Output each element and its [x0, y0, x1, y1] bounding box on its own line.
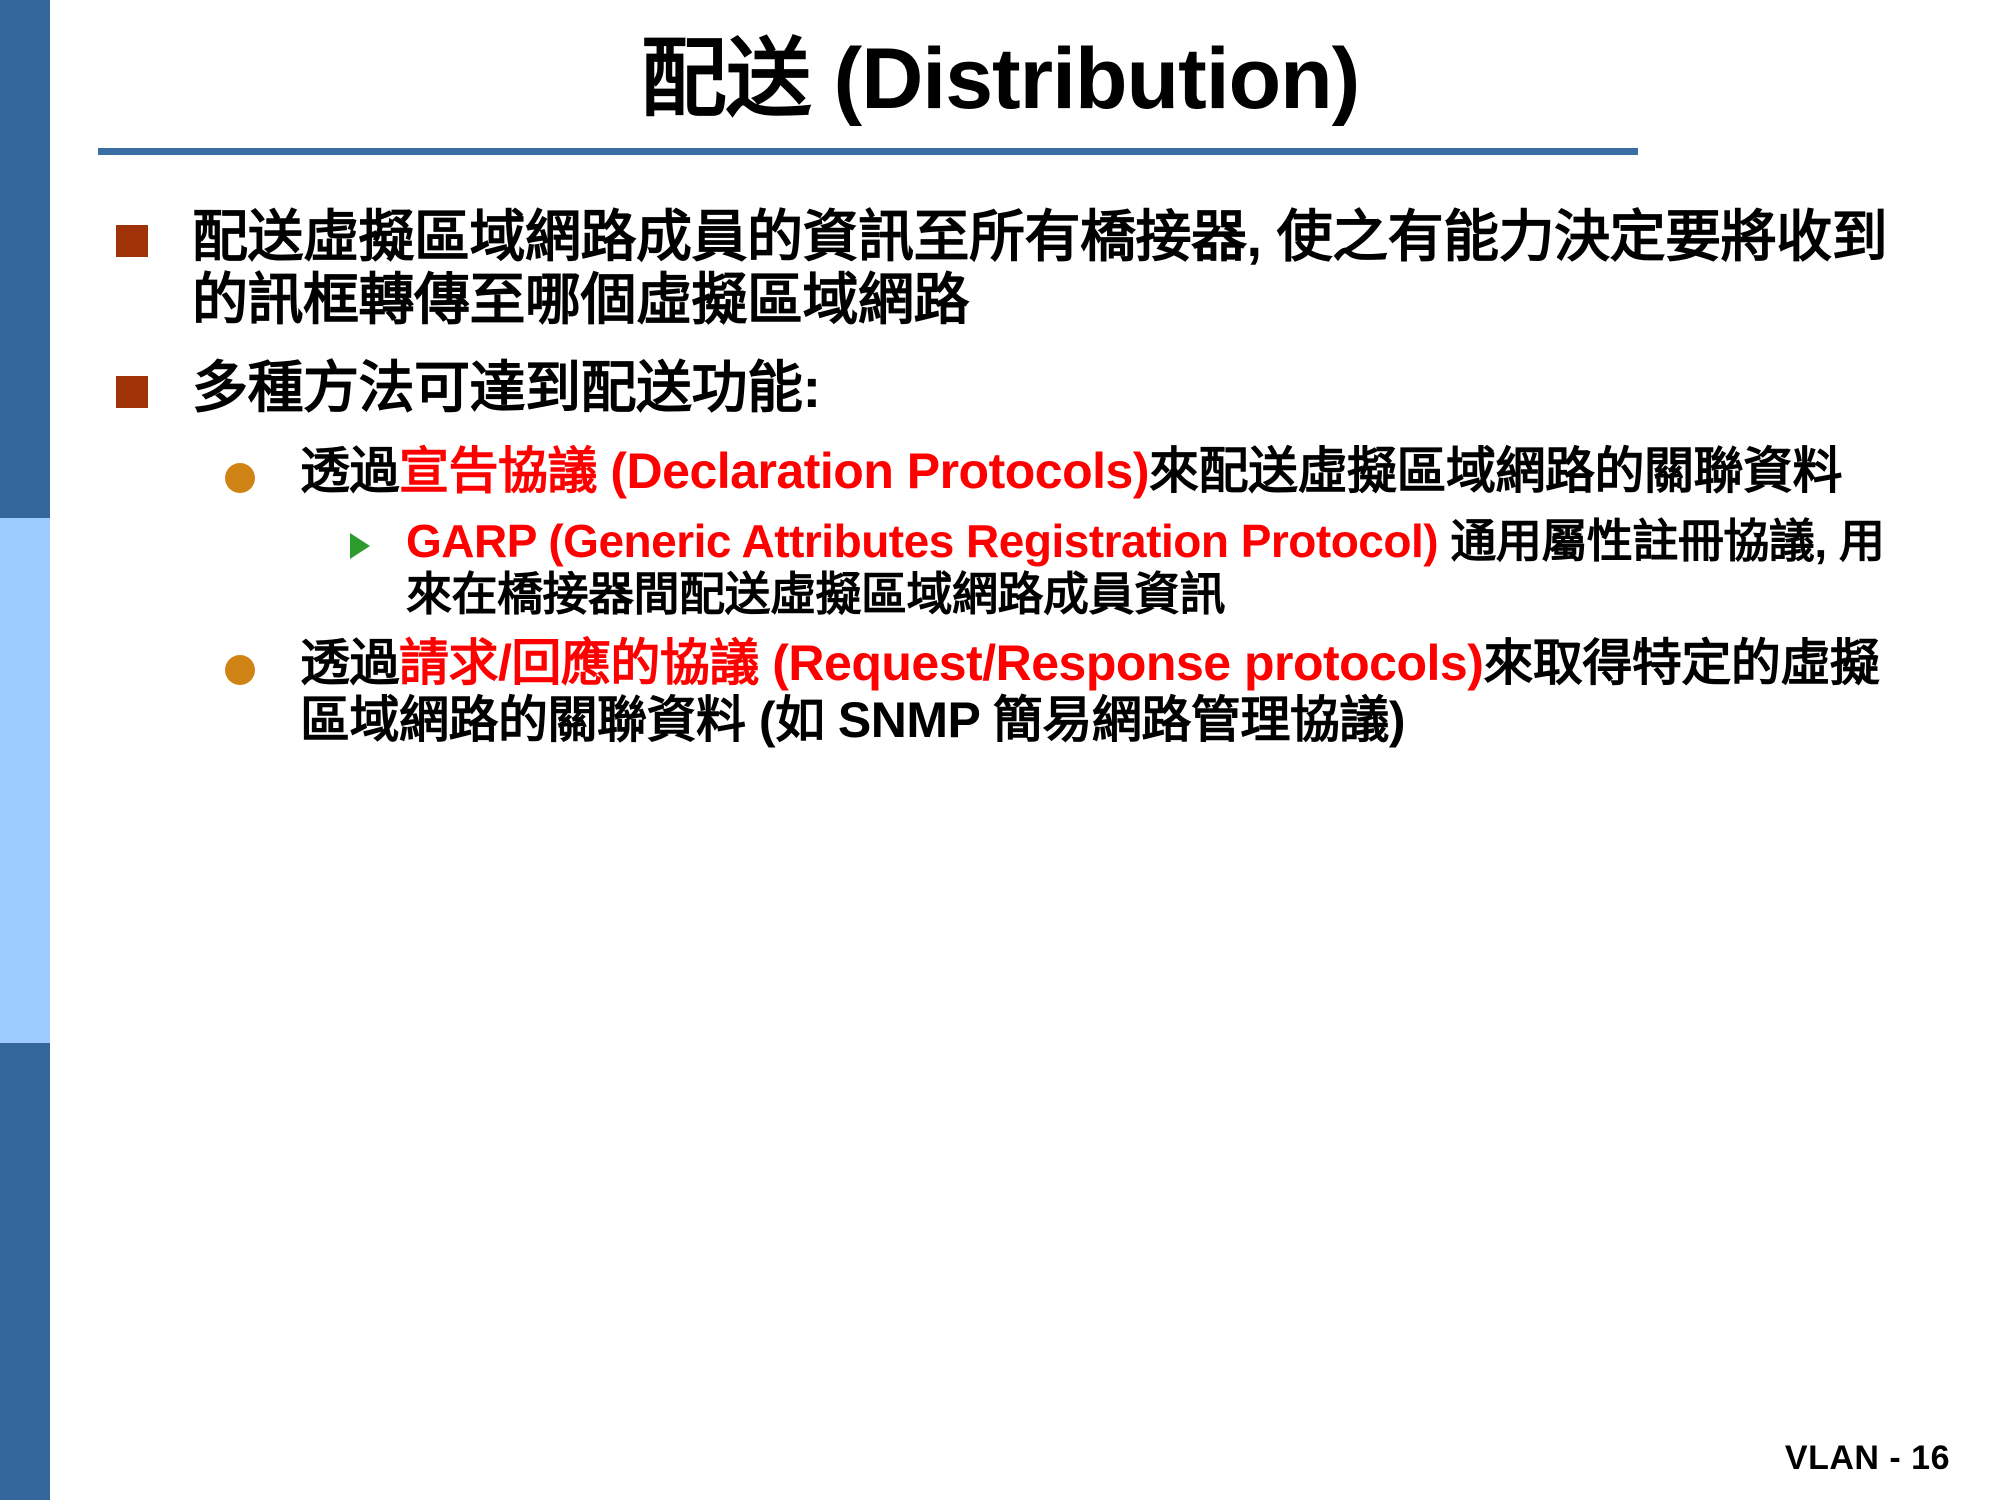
square-bullet-icon [116, 225, 148, 257]
bullet-level2-item: 透過請求/回應的協議 (Request/Response protocols)來… [110, 635, 1910, 748]
sidebar-stripe-top [0, 0, 50, 518]
sidebar-gap [50, 0, 58, 1500]
bullet-level3-text-highlight: GARP (Generic Attributes Registration Pr… [406, 515, 1438, 567]
circle-bullet-icon [225, 655, 255, 685]
square-bullet-icon [116, 376, 148, 408]
bullet-level2-text-prefix: 透過 [300, 443, 399, 499]
bullet-level1-text: 多種方法可達到配送功能: [192, 356, 821, 419]
bullet-level1-text: 配送虛擬區域網路成員的資訊至所有橋接器, 使之有能力決定要將收到的訊框轉傳至哪個… [192, 205, 1887, 331]
bullet-level2-text-suffix: 來配送虛擬區域網路的關聯資料 [1149, 443, 1842, 499]
triangle-bullet-icon [350, 533, 370, 559]
bullet-level3-item: GARP (Generic Attributes Registration Pr… [110, 515, 1910, 621]
bullet-level2-text-highlight: 請求/回應的協議 (Request/Response protocols) [399, 635, 1483, 691]
sidebar-stripe-middle [0, 518, 50, 1043]
bullet-level2-item: 透過宣告協議 (Declaration Protocols)來配送虛擬區域網路的… [110, 443, 1910, 500]
bullet-level1-item: 配送虛擬區域網路成員的資訊至所有橋接器, 使之有能力決定要將收到的訊框轉傳至哪個… [110, 205, 1910, 332]
bullet-level2-text-highlight: 宣告協議 (Declaration Protocols) [399, 443, 1149, 499]
bullet-level1-item: 多種方法可達到配送功能: [110, 356, 1910, 419]
circle-bullet-icon [225, 463, 255, 493]
slide-body: 配送虛擬區域網路成員的資訊至所有橋接器, 使之有能力決定要將收到的訊框轉傳至哪個… [110, 205, 1910, 764]
title-divider [98, 148, 1638, 155]
bullet-level2-text-prefix: 透過 [300, 635, 399, 691]
sidebar-stripe-bottom [0, 1043, 50, 1500]
slide-title: 配送 (Distribution) [100, 34, 1900, 124]
slide-footer: VLAN - 16 [1785, 1439, 1950, 1478]
slide-canvas: 配送 (Distribution) 配送虛擬區域網路成員的資訊至所有橋接器, 使… [0, 0, 2000, 1500]
